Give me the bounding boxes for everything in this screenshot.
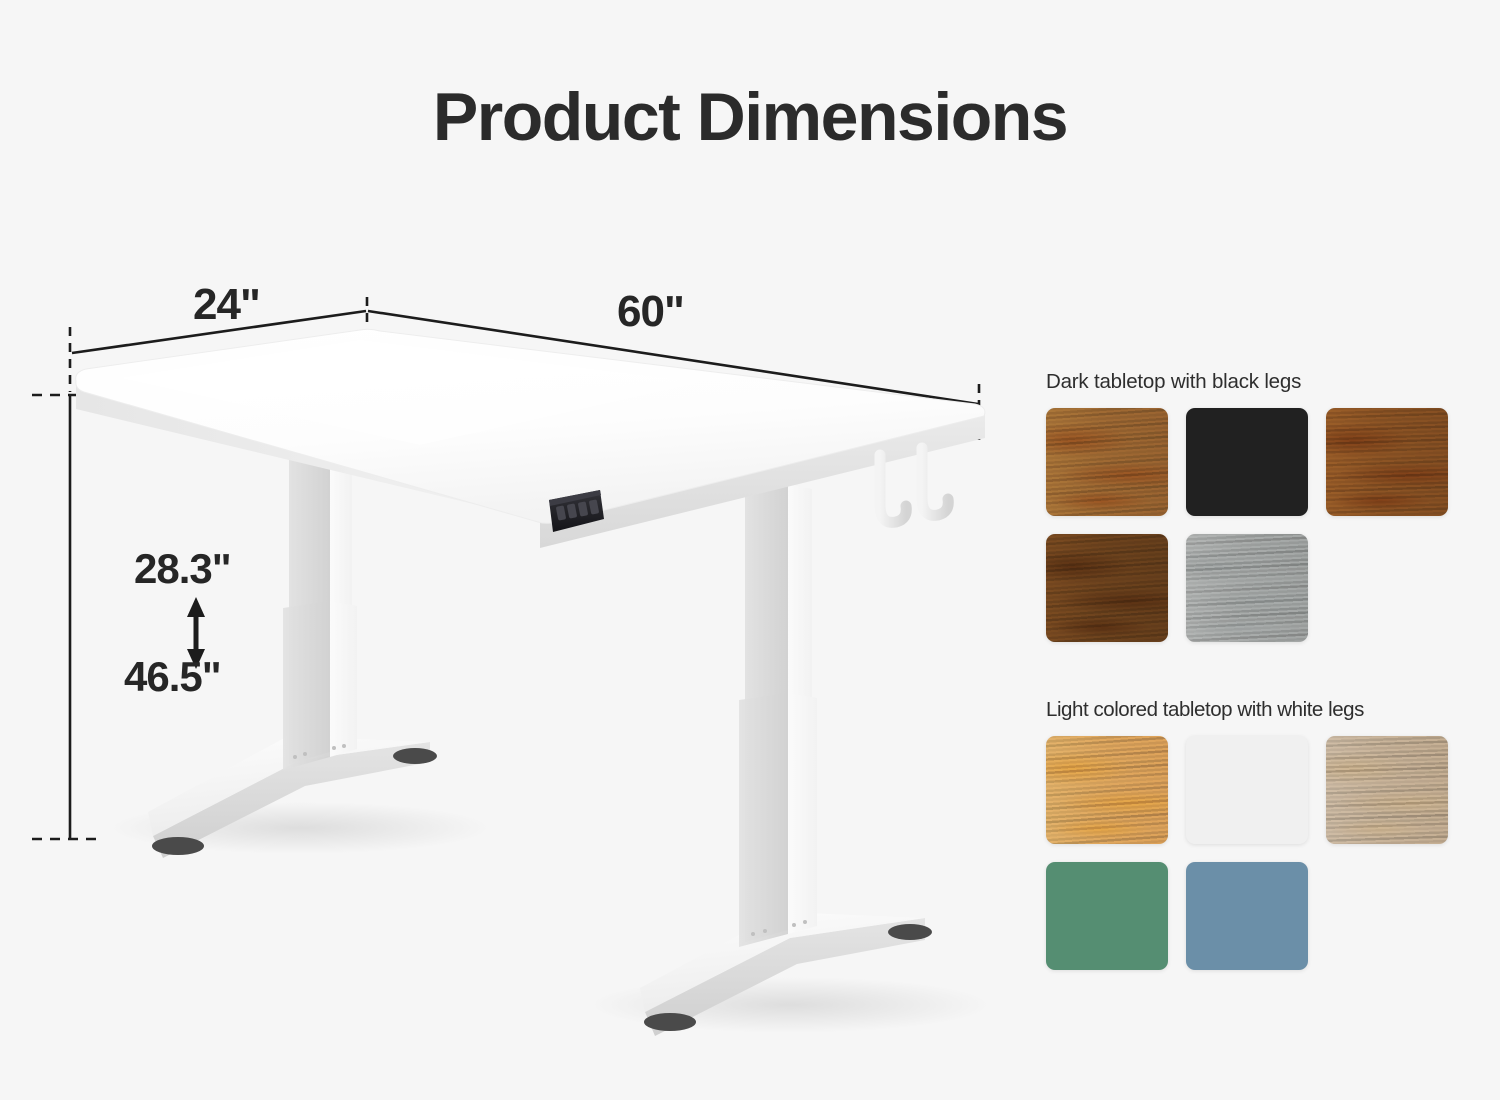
swatch-group-dark-title: Dark tabletop with black legs	[1046, 370, 1476, 394]
swatch-group-dark: Dark tabletop with black legs	[1046, 370, 1476, 642]
wood-knot-texture	[1186, 534, 1308, 642]
dimension-label-height-min: 28.3"	[134, 545, 231, 593]
swatch-steel-blue[interactable]	[1186, 862, 1308, 970]
swatch-rustic-brown[interactable]	[1046, 408, 1168, 516]
wood-knot-texture	[1326, 736, 1448, 844]
dimension-label-depth: 24"	[193, 280, 260, 330]
dimension-label-height-max: 46.5"	[124, 653, 221, 701]
wood-knot-texture	[1326, 408, 1448, 516]
swatch-grid-dark	[1046, 408, 1476, 642]
foot-pad-left	[152, 837, 204, 855]
swatch-group-light: Light colored tabletop with white legs	[1046, 698, 1476, 970]
swatch-grid-light	[1046, 736, 1476, 970]
desk-leg-right	[640, 484, 932, 1036]
color-options-panel: Dark tabletop with black legs Light colo…	[1046, 370, 1476, 970]
foot-pad-left-rear	[393, 748, 437, 764]
swatch-light-rustic[interactable]	[1326, 736, 1448, 844]
swatch-black[interactable]	[1186, 408, 1308, 516]
wood-knot-texture	[1046, 534, 1168, 642]
desk-diagram: 24" 60" 28.3" 46.5"	[0, 0, 1010, 1100]
wood-knot-texture	[1046, 408, 1168, 516]
wood-knot-texture	[1046, 736, 1168, 844]
swatch-sage-green[interactable]	[1046, 862, 1168, 970]
swatch-dark-walnut[interactable]	[1046, 534, 1168, 642]
foot-pad-right	[644, 1013, 696, 1031]
swatch-group-light-title: Light colored tabletop with white legs	[1046, 698, 1476, 722]
swatch-grey-oak[interactable]	[1186, 534, 1308, 642]
swatch-white[interactable]	[1186, 736, 1308, 844]
dimension-label-width: 60"	[617, 287, 684, 337]
swatch-golden-oak[interactable]	[1046, 736, 1168, 844]
desk-tabletop	[76, 329, 985, 548]
swatch-walnut-red[interactable]	[1326, 408, 1448, 516]
foot-pad-right-rear	[888, 924, 932, 940]
